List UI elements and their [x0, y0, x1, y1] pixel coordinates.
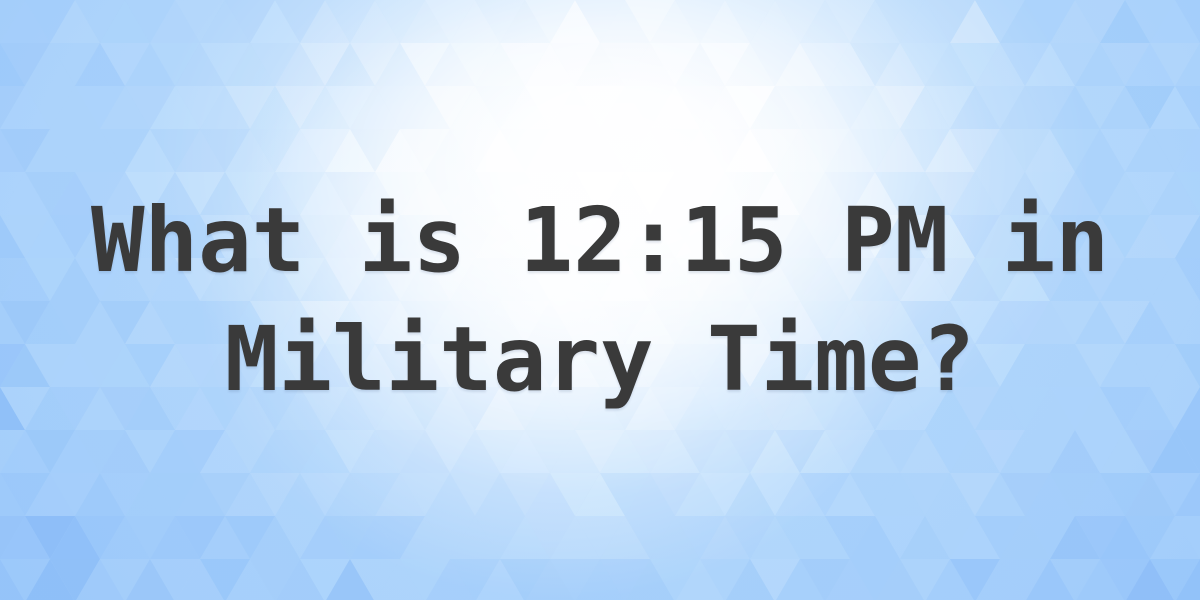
headline-block: What is 12:15 PM in Military Time?: [0, 0, 1200, 600]
headline-line-1: What is 12:15 PM in: [91, 181, 1109, 300]
banner-canvas: What is 12:15 PM in Military Time?: [0, 0, 1200, 600]
headline-line-2: Military Time?: [225, 300, 975, 419]
